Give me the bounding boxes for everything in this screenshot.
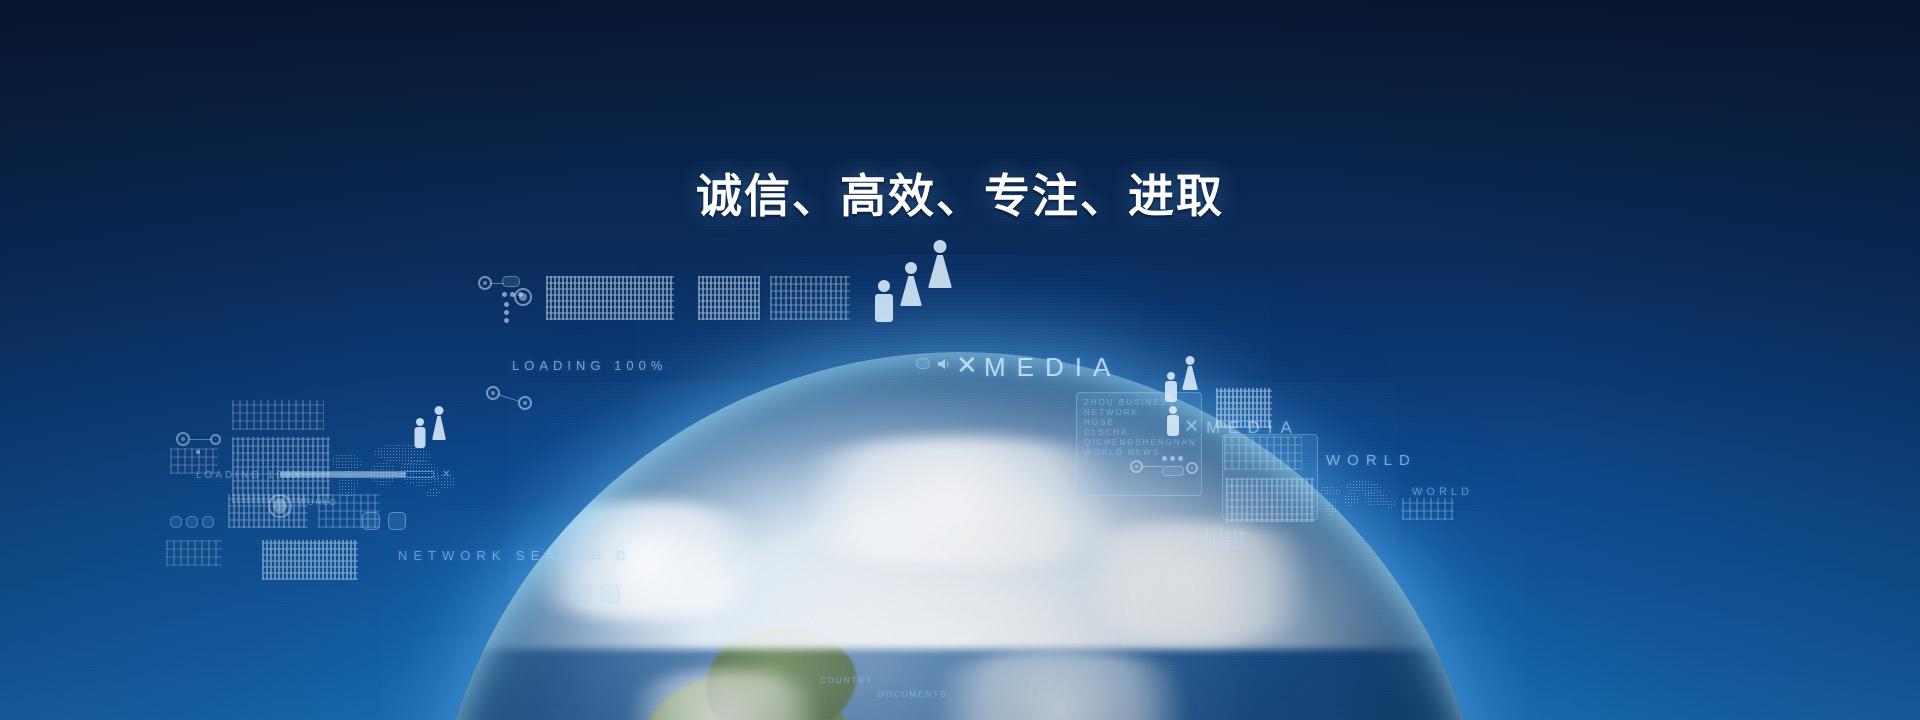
search-icon	[388, 512, 406, 530]
data-block-left-4	[228, 494, 308, 528]
page-title: 诚信、高效、专注、进取	[0, 160, 1920, 226]
loading-label-left: LOADING 100X	[196, 470, 303, 481]
network-node-cluster-left	[176, 424, 236, 464]
chat-bubble-icon	[362, 512, 380, 530]
grid-icon	[186, 516, 198, 528]
person-male-icon	[414, 418, 426, 448]
network-node-cluster-center	[474, 276, 534, 326]
person-female-icon	[928, 240, 952, 288]
data-block-left-5	[318, 494, 380, 528]
data-block-left-7	[166, 540, 222, 566]
hero-banner: 诚信、高效、专注、进取 LOADING 100X ✕	[0, 0, 1920, 720]
grid-icon	[202, 516, 214, 528]
loading-bar-left: LOADING 100X ✕	[196, 468, 456, 484]
data-block-top-1	[546, 276, 674, 320]
grid-icon	[170, 516, 182, 528]
data-block-left-3	[170, 448, 218, 474]
data-block-left-1	[232, 437, 330, 503]
globe-grid-icon-left	[268, 494, 294, 520]
data-block-left-6	[262, 540, 358, 580]
data-block-left-2	[232, 400, 324, 430]
earth-globe	[430, 352, 1490, 720]
data-block-top-2	[698, 276, 760, 320]
globe-container	[430, 352, 1490, 720]
world-label-left: WORLD	[298, 498, 338, 507]
grid-icon-group-left	[170, 516, 216, 530]
node-chip-icon	[502, 276, 520, 287]
